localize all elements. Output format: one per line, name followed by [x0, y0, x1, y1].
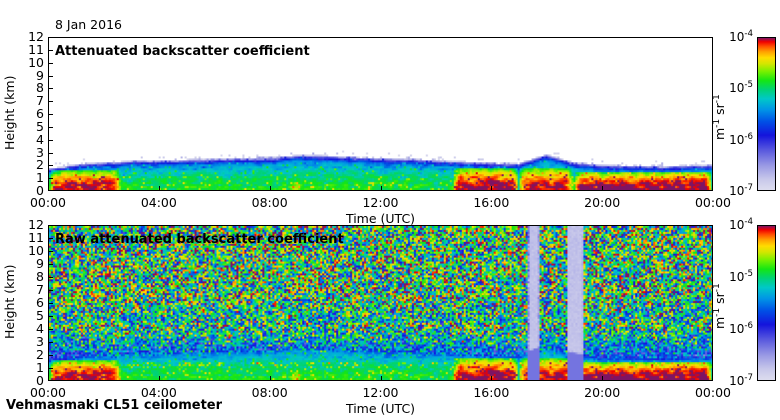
colorbar-tick-label: 10-7 [729, 184, 753, 198]
colorbar-gradient-top [758, 38, 775, 190]
x-tick-label: 08:00 [252, 195, 288, 210]
x-tick-label: 00:00 [695, 195, 731, 210]
colorbar-bottom [757, 225, 776, 381]
x-axis-title-bottom: Time (UTC) [346, 401, 415, 416]
y-tick-mark [48, 264, 53, 265]
y-tick-label: 12 [28, 219, 44, 232]
y-tick-mark [48, 342, 53, 343]
x-tick-label: 16:00 [473, 385, 509, 400]
y-tick-label: 3 [36, 146, 44, 159]
figure-root: 8 Jan 2016 Attenuated backscatter coeffi… [0, 0, 780, 420]
colorbar-tick-label: 10-5 [729, 270, 753, 284]
y-tick-mark [48, 368, 53, 369]
x-tick-mark [159, 376, 160, 381]
y-tick-mark [48, 140, 53, 141]
y-tickmarks-top [48, 37, 53, 191]
y-axis-ticks-top: 0123456789101112 [18, 37, 44, 191]
y-tick-mark [48, 153, 53, 154]
panel-raw-attenuated-backscatter: Raw attenuated backscatter coefficient [48, 225, 713, 381]
y-tick-label: 11 [28, 44, 44, 57]
y-tick-label: 6 [36, 297, 44, 310]
panel-title-attenuated: Attenuated backscatter coefficient [55, 44, 310, 59]
y-tick-label: 4 [36, 323, 44, 336]
y-tick-mark [48, 101, 53, 102]
y-tick-mark [48, 178, 53, 179]
y-tick-label: 12 [28, 31, 44, 44]
y-tick-mark [48, 114, 53, 115]
y-tick-label: 10 [28, 245, 44, 258]
y-tick-mark [48, 277, 53, 278]
y-tick-mark [48, 127, 53, 128]
x-tick-mark [270, 376, 271, 381]
colorbar-unit-top: m-1 sr-1 [712, 94, 727, 140]
panel-attenuated-backscatter: Attenuated backscatter coefficient [48, 37, 713, 191]
x-tick-label: 00:00 [30, 195, 66, 210]
x-tick-label: 20:00 [584, 385, 620, 400]
y-tick-label: 1 [36, 172, 44, 185]
y-tick-mark [48, 251, 53, 252]
x-tickmarks-bottom [48, 376, 713, 381]
x-tick-label: 08:00 [252, 385, 288, 400]
y-tick-label: 7 [36, 284, 44, 297]
y-tick-mark [48, 290, 53, 291]
y-tick-label: 7 [36, 95, 44, 108]
y-tick-label: 8 [36, 82, 44, 95]
y-tick-label: 2 [36, 159, 44, 172]
heatmap-canvas-attenuated [49, 38, 712, 190]
x-tick-label: 04:00 [141, 195, 177, 210]
y-axis-title-top: Height (km) [2, 76, 17, 150]
colorbar-gradient-bottom [758, 226, 775, 380]
x-tick-label: 12:00 [362, 195, 398, 210]
y-tick-label: 6 [36, 108, 44, 121]
x-tick-mark [491, 186, 492, 191]
y-tick-mark [48, 165, 53, 166]
colorbar-tick-label: 10-6 [729, 133, 753, 147]
y-tick-label: 4 [36, 133, 44, 146]
y-tickmarks-bottom [48, 225, 53, 381]
y-tick-label: 3 [36, 336, 44, 349]
x-tick-mark [491, 376, 492, 381]
colorbar-tick-label: 10-5 [729, 81, 753, 95]
y-tick-mark [48, 50, 53, 51]
heatmap-canvas-raw [49, 226, 712, 380]
x-tick-label: 12:00 [362, 385, 398, 400]
x-tick-mark [381, 186, 382, 191]
y-tick-mark [48, 329, 53, 330]
colorbar-tick-label: 10-6 [729, 322, 753, 336]
y-tick-mark [48, 63, 53, 64]
date-label: 8 Jan 2016 [55, 17, 122, 32]
colorbar-tick-label: 10-4 [729, 218, 753, 232]
y-tick-label: 5 [36, 121, 44, 134]
y-axis-title-bottom: Height (km) [2, 265, 17, 339]
footer-station-label: Vehmasmaki CL51 ceilometer [6, 398, 222, 413]
x-tickmarks-top [48, 186, 713, 191]
x-tick-mark [602, 186, 603, 191]
y-tick-mark [48, 88, 53, 89]
y-tick-mark [48, 316, 53, 317]
x-tick-mark [159, 186, 160, 191]
y-tick-label: 8 [36, 271, 44, 284]
x-tick-mark [381, 376, 382, 381]
y-axis-ticks-bottom: 0123456789101112 [18, 225, 44, 381]
colorbar-tick-label: 10-4 [729, 30, 753, 44]
y-tick-label: 10 [28, 56, 44, 69]
panel-title-raw: Raw attenuated backscatter coefficient [55, 232, 344, 247]
y-tick-label: 1 [36, 362, 44, 375]
y-tick-label: 11 [28, 232, 44, 245]
x-tick-mark [602, 376, 603, 381]
y-tick-label: 2 [36, 349, 44, 362]
y-tick-mark [48, 303, 53, 304]
x-tick-label: 00:00 [695, 385, 731, 400]
x-tick-label: 20:00 [584, 195, 620, 210]
y-tick-label: 9 [36, 258, 44, 271]
y-tick-label: 9 [36, 69, 44, 82]
colorbar-unit-bottom: m-1 sr-1 [712, 283, 727, 329]
colorbar-tick-label: 10-7 [729, 374, 753, 388]
x-tick-mark [270, 186, 271, 191]
x-axis-title-top: Time (UTC) [346, 211, 415, 226]
y-tick-label: 5 [36, 310, 44, 323]
x-tick-label: 16:00 [473, 195, 509, 210]
y-tick-mark [48, 76, 53, 77]
colorbar-top [757, 37, 776, 191]
y-tick-mark [48, 355, 53, 356]
y-tick-mark [48, 238, 53, 239]
